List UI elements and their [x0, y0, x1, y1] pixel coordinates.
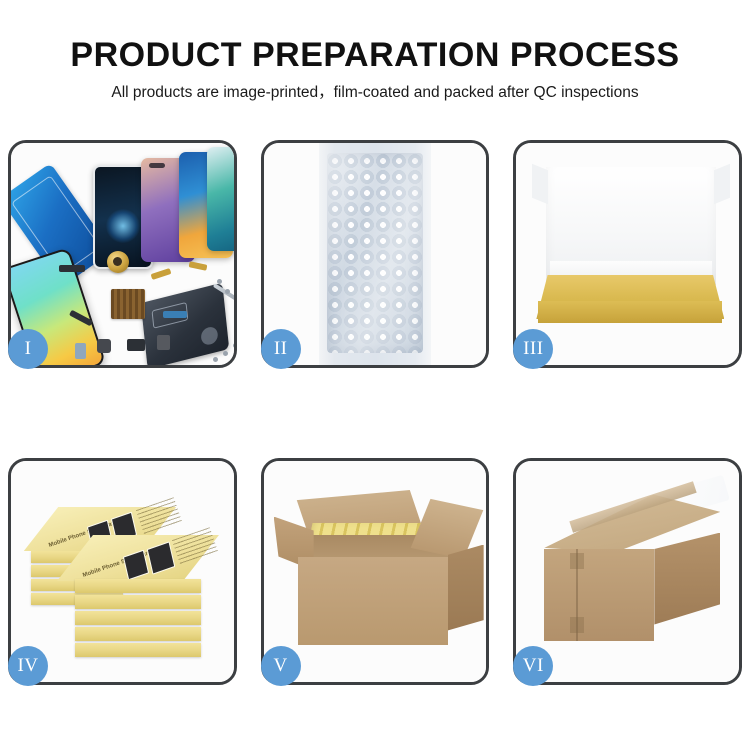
stacked-box-icon [75, 579, 201, 593]
carton-side-icon [448, 545, 484, 631]
step-panel-6: VI [513, 458, 742, 686]
step-badge-5: V [261, 646, 301, 686]
carton-tab-icon [570, 617, 584, 633]
camera-module-icon [97, 339, 111, 353]
step-panel-5: V [261, 458, 490, 686]
step-panel-3: III [513, 140, 742, 368]
screw-icon [213, 357, 218, 362]
gold-connector-icon [151, 268, 172, 280]
screw-icon [225, 289, 230, 294]
stacked-box-icon [75, 627, 201, 641]
step-image-inner-box [516, 143, 739, 365]
vibrator-module-icon [157, 335, 170, 350]
carton-front-icon [298, 557, 448, 645]
flex-cable-icon [59, 265, 85, 272]
screw-icon [217, 279, 222, 284]
header: PRODUCT PREPARATION PROCESS All products… [0, 0, 750, 103]
step-panel-4: Mobile Phone Spare Parts Mobile Phone Sp… [8, 458, 237, 686]
step-badge-2: II [261, 329, 301, 369]
box-spec-lines-icon [172, 527, 218, 565]
page-title: PRODUCT PREPARATION PROCESS [0, 0, 750, 75]
phone-teal-icon [207, 147, 234, 251]
stacked-box-icon [75, 595, 201, 609]
page-subtitle: All products are image-printed，film-coat… [0, 75, 750, 103]
blue-connector-icon [163, 311, 187, 318]
circuit-board-icon [111, 289, 145, 319]
stacked-box-icon [75, 611, 201, 625]
plastic-sheen-icon [327, 153, 423, 353]
step-badge-1: I [8, 329, 48, 369]
battery-part-icon [127, 339, 145, 351]
step-image-carton-filling [264, 461, 487, 683]
step-image-stacked-boxes: Mobile Phone Spare Parts Mobile Phone Sp… [11, 461, 234, 683]
carton-front-icon [544, 549, 654, 641]
step-image-bubble-wrap [264, 143, 487, 365]
screw-icon [223, 351, 228, 356]
carton-side-icon [654, 533, 720, 625]
screw-icon [233, 343, 234, 348]
step-panel-2: II [261, 140, 490, 368]
kraft-tray-front-icon [538, 301, 722, 323]
step-badge-4: IV [8, 646, 48, 686]
step-image-products [11, 143, 234, 365]
steps-grid: I II III [8, 140, 742, 685]
gold-connector-icon [189, 261, 208, 271]
step-badge-3: III [513, 329, 553, 369]
carton-tab-icon [570, 553, 584, 569]
product-preparation-infographic: PRODUCT PREPARATION PROCESS All products… [0, 0, 750, 750]
box-stack-icon: Mobile Phone Spare Parts Mobile Phone Sp… [23, 479, 219, 665]
sim-tray-icon [75, 343, 86, 359]
box-spec-lines-icon [136, 497, 182, 535]
stacked-box-icon [75, 643, 201, 657]
phone-rear-housing-icon [141, 283, 229, 365]
step-image-sealed-carton [516, 461, 739, 683]
speaker-coil-icon [107, 251, 129, 273]
step-panel-1: I [8, 140, 237, 368]
